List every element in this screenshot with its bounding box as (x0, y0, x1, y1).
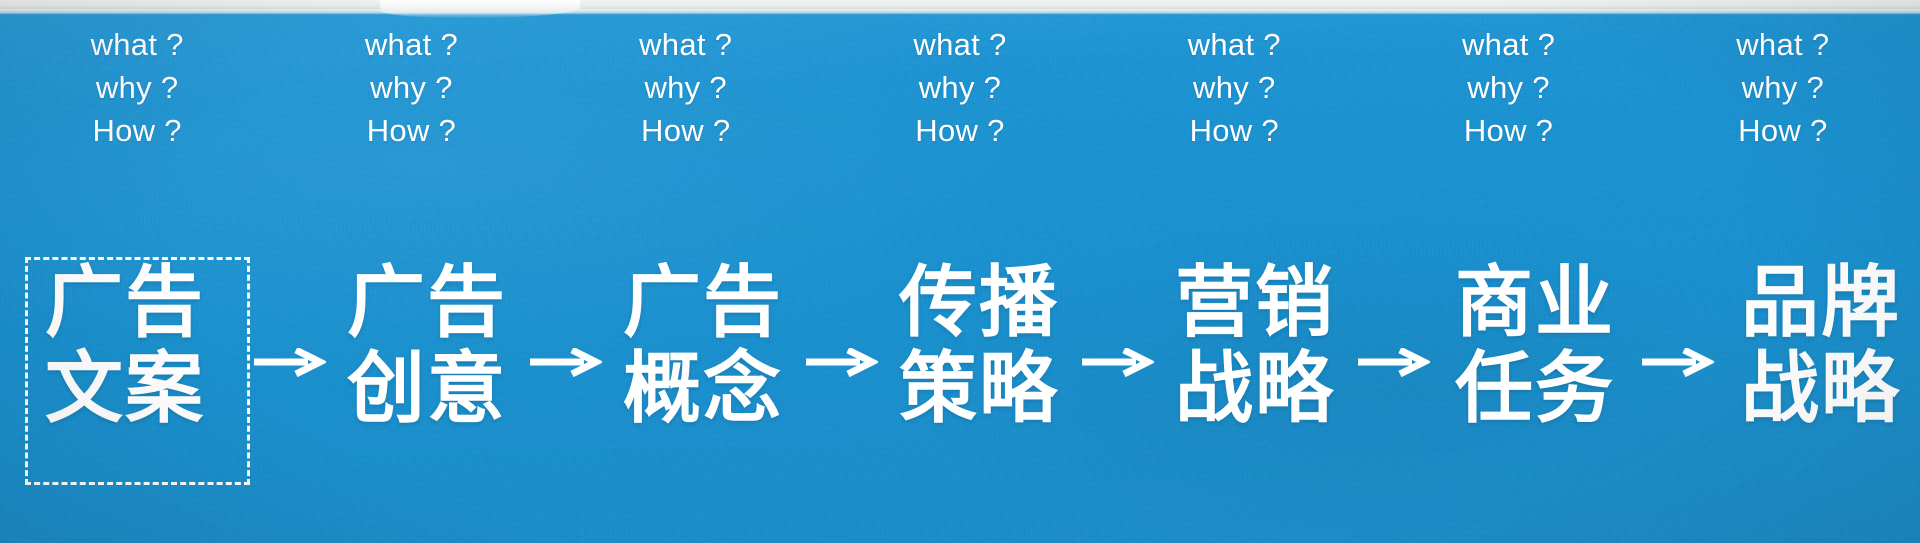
question-how: How ? (367, 109, 456, 152)
question-header-row: what ? why ? How ? what ? why ? How ? wh… (0, 14, 1920, 154)
poster-canvas: what ? why ? How ? what ? why ? How ? wh… (0, 0, 1920, 543)
question-why: why ? (96, 66, 178, 109)
question-how: How ? (92, 109, 181, 152)
question-why: why ? (644, 66, 726, 109)
arrow-right-icon-3 (802, 333, 880, 393)
stage-line-2: 概念 (623, 346, 783, 432)
flow-stage-communication-strategy[interactable]: 传播 策略 (880, 260, 1078, 432)
question-what: what ? (365, 23, 458, 66)
question-what: what ? (91, 23, 184, 66)
flow-stage-marketing-strategy[interactable]: 营销 战略 (1156, 260, 1354, 432)
stage-line-2: 创意 (347, 346, 507, 432)
flow-stage-ad-creative[interactable]: 广告 创意 (328, 260, 526, 432)
question-what: what ? (1188, 23, 1281, 66)
question-column-3: what ? why ? How ? (549, 14, 823, 154)
stage-line-2: 任务 (1455, 346, 1615, 432)
stage-line-1: 品牌 (1741, 260, 1901, 346)
question-column-6: what ? why ? How ? (1371, 14, 1645, 154)
stage-line-1: 广告 (623, 260, 783, 346)
question-what: what ? (1462, 23, 1555, 66)
question-how: How ? (641, 109, 730, 152)
question-why: why ? (919, 66, 1001, 109)
question-column-5: what ? why ? How ? (1097, 14, 1371, 154)
arrow-right-icon-1 (250, 333, 328, 393)
question-what: what ? (639, 23, 732, 66)
stage-line-1: 广告 (45, 260, 205, 346)
stage-line-2: 战略 (1175, 346, 1335, 432)
question-what: what ? (1736, 23, 1829, 66)
stage-line-1: 广告 (347, 260, 507, 346)
arrow-right-icon-6 (1638, 333, 1716, 393)
question-column-7: what ? why ? How ? (1646, 14, 1920, 154)
flow-stage-business-task[interactable]: 商业 任务 (1432, 260, 1638, 432)
question-why: why ? (1742, 66, 1824, 109)
question-how: How ? (1190, 109, 1279, 152)
flow-stage-ad-copy[interactable]: 广告 文案 (0, 260, 250, 432)
question-why: why ? (370, 66, 452, 109)
process-flow-row: 广告 文案 广告 创意 广告 概念 (0, 196, 1920, 496)
question-how: How ? (1738, 109, 1827, 152)
question-what: what ? (913, 23, 1006, 66)
arrow-right-icon-2 (526, 333, 604, 393)
flow-stage-ad-concept[interactable]: 广告 概念 (604, 260, 802, 432)
arrow-right-icon-5 (1354, 333, 1432, 393)
stage-line-2: 文案 (45, 346, 205, 432)
question-how: How ? (915, 109, 1004, 152)
question-how: How ? (1464, 109, 1553, 152)
question-why: why ? (1467, 66, 1549, 109)
question-column-1: what ? why ? How ? (0, 14, 274, 154)
stage-line-1: 商业 (1455, 260, 1615, 346)
arrow-right-icon-4 (1078, 333, 1156, 393)
stage-line-2: 策略 (899, 346, 1059, 432)
stage-line-1: 营销 (1175, 260, 1335, 346)
stage-line-1: 传播 (899, 260, 1059, 346)
question-column-4: what ? why ? How ? (823, 14, 1097, 154)
question-column-2: what ? why ? How ? (274, 14, 548, 154)
flow-stage-brand-strategy[interactable]: 品牌 战略 (1716, 260, 1920, 432)
question-why: why ? (1193, 66, 1275, 109)
stage-line-2: 战略 (1741, 346, 1901, 432)
